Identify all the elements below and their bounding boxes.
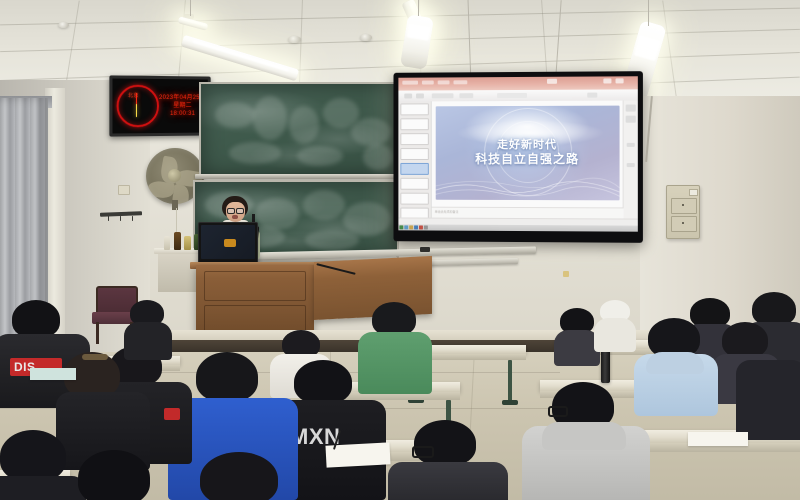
slide-thumbnail[interactable] — [400, 103, 428, 115]
slide-thumbnail[interactable] — [400, 193, 428, 205]
clock-city-label: 北京 — [128, 92, 139, 99]
podium — [196, 265, 314, 340]
jacket-script — [304, 456, 306, 462]
bottle[interactable] — [184, 236, 191, 250]
desk-foot — [502, 400, 518, 405]
led-time: 18:00:31 — [170, 111, 195, 117]
slide-wave-graphic — [436, 172, 620, 201]
smoke-detector-icon — [288, 36, 301, 43]
os-taskbar[interactable] — [398, 224, 637, 231]
notebook-paper — [30, 368, 76, 380]
power-outlet[interactable] — [118, 185, 130, 195]
rail-clip — [420, 247, 430, 252]
slide-title-line1: 走好新时代 — [497, 139, 557, 153]
led-weekday: 星期二 — [173, 103, 191, 109]
glasses-icon — [236, 208, 244, 214]
fan-mount — [172, 200, 178, 210]
monitor-arm-joint — [224, 239, 236, 247]
wall-hook — [120, 216, 121, 221]
browser-icon[interactable] — [414, 225, 418, 229]
wall-hook — [132, 216, 133, 221]
speaker-icon — [58, 22, 69, 28]
start-icon[interactable] — [399, 225, 403, 229]
light-suspension-wire — [648, 0, 649, 26]
light-suspension-wire — [418, 0, 419, 16]
app-icon[interactable] — [419, 225, 423, 229]
bottle[interactable] — [174, 232, 181, 250]
slide-thumbnail[interactable] — [400, 148, 428, 160]
rail-marker — [563, 271, 569, 277]
lecturer-mouth — [232, 215, 238, 219]
app-icon[interactable] — [424, 226, 428, 230]
glasses-icon — [227, 208, 235, 214]
chalkboard-upper-panel — [199, 82, 399, 178]
search-icon[interactable] — [404, 225, 408, 229]
front-desk — [314, 256, 432, 320]
smoke-detector-icon — [360, 34, 372, 41]
presentation-app[interactable]: 走好新时代 科技自立自强之路 单击此处添加备注 — [398, 76, 637, 231]
slide-thumbnail[interactable] — [400, 133, 428, 145]
wall-control-panel[interactable] — [666, 185, 700, 239]
slide-thumbnail-selected[interactable] — [400, 163, 428, 175]
app-ribbon[interactable] — [398, 76, 637, 90]
slide-thumbnail[interactable] — [400, 178, 428, 190]
current-slide[interactable]: 走好新时代 科技自立自强之路 — [436, 106, 620, 201]
classroom-photo: 北京 2023年04月25日 星期二 18:00:31 — [0, 0, 800, 500]
slide-title-line2: 科技自立自强之路 — [475, 152, 579, 167]
bottle[interactable] — [164, 236, 170, 250]
wall-hook — [108, 216, 109, 221]
interactive-smart-display[interactable]: 走好新时代 科技自立自强之路 单击此处添加备注 — [394, 71, 643, 243]
fan-hub — [168, 169, 181, 182]
jacket-patch — [164, 408, 180, 420]
chalk-tray — [195, 174, 396, 179]
light-suspension-wire — [190, 0, 191, 16]
clock-face-icon: 北京 — [117, 85, 159, 128]
slide-thumbnail-panel[interactable] — [398, 101, 431, 218]
slide-stage[interactable]: 走好新时代 科技自立自强之路 — [432, 101, 624, 208]
notebook-paper — [688, 432, 748, 446]
slide-thumbnail[interactable] — [400, 118, 428, 130]
glasses-icon — [412, 446, 434, 458]
slide-right-pane[interactable] — [623, 100, 638, 219]
explorer-icon[interactable] — [409, 225, 413, 229]
desk-leg — [508, 360, 512, 402]
glasses-icon — [548, 406, 568, 417]
